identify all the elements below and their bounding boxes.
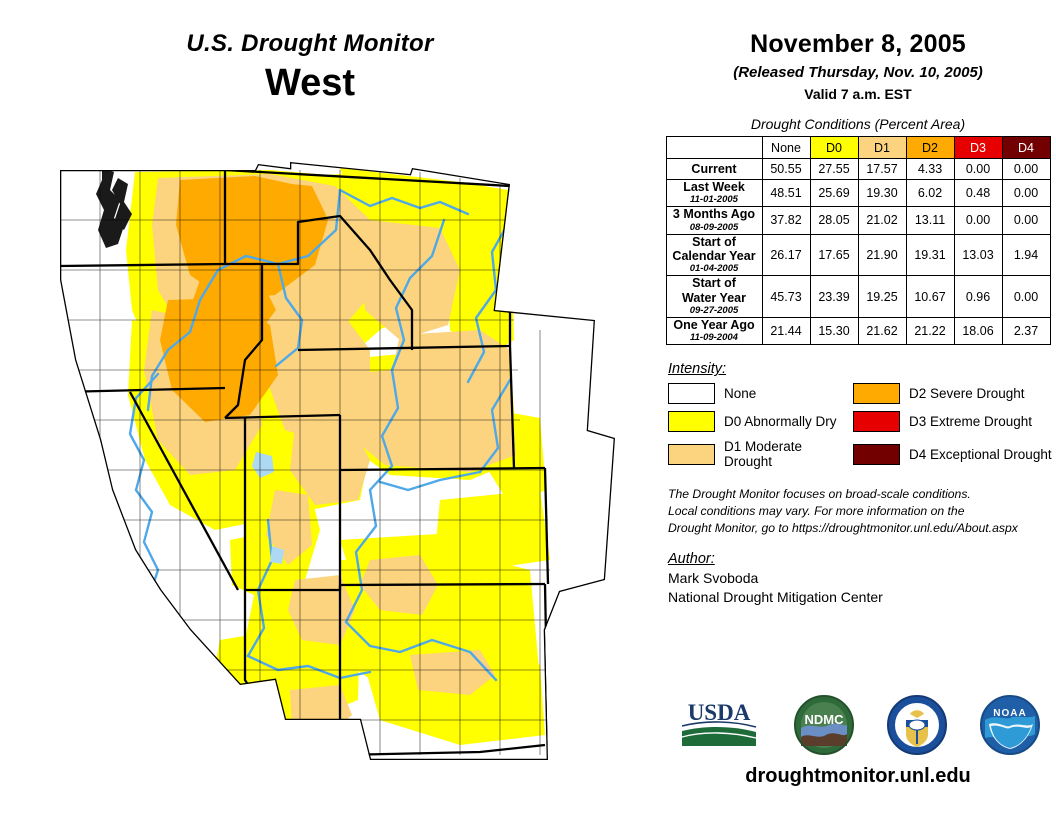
author-name: Mark Svoboda	[668, 570, 1056, 586]
cell-d3: 0.48	[954, 180, 1002, 207]
info-panel: November 8, 2005 (Released Thursday, Nov…	[660, 0, 1056, 816]
row-label-title: Start ofCalendar Year	[667, 235, 762, 264]
column-header-d4: D4	[1002, 137, 1050, 159]
ndmc-logo[interactable]: NDMC	[793, 694, 855, 756]
row-label: Last Week11-01-2005	[666, 180, 762, 207]
cell-d3: 0.00	[954, 159, 1002, 180]
column-header-d2: D2	[906, 137, 954, 159]
cell-d1: 21.02	[858, 207, 906, 234]
cell-none: 37.82	[762, 207, 810, 234]
cell-d4: 0.00	[1002, 276, 1050, 318]
table-row: Last Week11-01-200548.5125.6919.306.020.…	[666, 180, 1050, 207]
map-title-block: U.S. Drought Monitor West	[0, 30, 620, 105]
drought-map[interactable]	[40, 160, 620, 780]
legend-label-d1: D1 Moderate Drought	[724, 439, 853, 469]
report-header: November 8, 2005 (Released Thursday, Nov…	[660, 0, 1056, 102]
legend-label-none: None	[724, 386, 756, 401]
cell-d1: 19.30	[858, 180, 906, 207]
legend-grid: NoneD2 Severe DroughtD0 Abnormally DryD3…	[668, 383, 1056, 469]
legend-swatch-none	[668, 383, 715, 404]
cell-d2: 4.33	[906, 159, 954, 180]
legend-item-d3[interactable]: D3 Extreme Drought	[853, 411, 1053, 432]
author-org: National Drought Mitigation Center	[668, 589, 1056, 605]
legend-item-none[interactable]: None	[668, 383, 853, 404]
cell-none: 48.51	[762, 180, 810, 207]
cell-d2: 6.02	[906, 180, 954, 207]
table-row: Start ofCalendar Year01-04-200526.1717.6…	[666, 234, 1050, 276]
row-label-date: 09-27-2005	[667, 306, 762, 317]
cell-d1: 21.90	[858, 234, 906, 276]
legend-label-d4: D4 Exceptional Drought	[909, 447, 1052, 462]
disclaimer-line-2: Local conditions may vary. For more info…	[668, 503, 1056, 520]
row-label-title: One Year Ago	[667, 318, 762, 332]
cell-d1: 19.25	[858, 276, 906, 318]
row-label-date: 11-09-2004	[667, 333, 762, 344]
row-label: Current	[666, 159, 762, 180]
table-caption: Drought Conditions (Percent Area)	[660, 116, 1056, 132]
legend-swatch-d1	[668, 444, 715, 465]
row-label-date: 08-09-2005	[667, 223, 762, 234]
map-panel: U.S. Drought Monitor West	[0, 0, 660, 816]
legend-heading: Intensity:	[668, 361, 1056, 377]
legend-item-d4[interactable]: D4 Exceptional Drought	[853, 439, 1053, 469]
cell-d1: 17.57	[858, 159, 906, 180]
cell-d4: 0.00	[1002, 159, 1050, 180]
map-title-primary: U.S. Drought Monitor	[0, 30, 620, 58]
legend-item-d1[interactable]: D1 Moderate Drought	[668, 439, 853, 469]
row-label-date: 01-04-2005	[667, 264, 762, 275]
legend-item-d0[interactable]: D0 Abnormally Dry	[668, 411, 853, 432]
row-label-title: Start ofWater Year	[667, 276, 762, 305]
cell-d4: 0.00	[1002, 207, 1050, 234]
legend-swatch-d2	[853, 383, 900, 404]
legend-swatch-d3	[853, 411, 900, 432]
row-label: One Year Ago11-09-2004	[666, 317, 762, 344]
drought-conditions-table: None D0 D1 D2 D3 D4 Current50.5527.5517.…	[666, 136, 1051, 345]
cell-d3: 0.96	[954, 276, 1002, 318]
cell-none: 26.17	[762, 234, 810, 276]
legend-item-d2[interactable]: D2 Severe Drought	[853, 383, 1053, 404]
column-header-none: None	[762, 137, 810, 159]
cell-d2: 10.67	[906, 276, 954, 318]
cell-d0: 23.39	[810, 276, 858, 318]
table-corner-cell	[666, 137, 762, 159]
legend-label-d3: D3 Extreme Drought	[909, 414, 1032, 429]
table-body: Current50.5527.5517.574.330.000.00Last W…	[666, 159, 1050, 345]
noaa-logo[interactable]: NOAA	[979, 694, 1041, 756]
cell-d4: 2.37	[1002, 317, 1050, 344]
cell-none: 21.44	[762, 317, 810, 344]
author-block: Author: Mark Svoboda National Drought Mi…	[668, 551, 1056, 605]
table-row: Current50.5527.5517.574.330.000.00	[666, 159, 1050, 180]
report-date: November 8, 2005	[660, 30, 1056, 59]
table-header-row: None D0 D1 D2 D3 D4	[666, 137, 1050, 159]
legend-label-d2: D2 Severe Drought	[909, 386, 1025, 401]
row-label-title: Current	[667, 162, 762, 176]
website-url[interactable]: droughtmonitor.unl.edu	[660, 765, 1056, 788]
row-label: Start ofCalendar Year01-04-2005	[666, 234, 762, 276]
map-title-region: West	[0, 62, 620, 105]
row-label: 3 Months Ago08-09-2005	[666, 207, 762, 234]
cell-d2: 21.22	[906, 317, 954, 344]
table-row: One Year Ago11-09-200421.4415.3021.6221.…	[666, 317, 1050, 344]
cell-none: 50.55	[762, 159, 810, 180]
table-row: Start ofWater Year09-27-200545.7323.3919…	[666, 276, 1050, 318]
author-heading: Author:	[668, 551, 1056, 567]
row-label-title: 3 Months Ago	[667, 207, 762, 221]
partner-logos: USDA NDMC	[660, 690, 1056, 760]
report-valid-time: Valid 7 a.m. EST	[660, 86, 1056, 102]
disclaimer-text: The Drought Monitor focuses on broad-sca…	[668, 486, 1056, 536]
intensity-legend: Intensity: NoneD2 Severe DroughtD0 Abnor…	[668, 361, 1056, 469]
table-row: 3 Months Ago08-09-200537.8228.0521.0213.…	[666, 207, 1050, 234]
cell-d3: 18.06	[954, 317, 1002, 344]
cell-d0: 25.69	[810, 180, 858, 207]
cell-d3: 13.03	[954, 234, 1002, 276]
svg-text:NOAA: NOAA	[993, 708, 1026, 719]
disclaimer-line-3: Drought Monitor, go to https://droughtmo…	[668, 520, 1056, 537]
legend-label-d0: D0 Abnormally Dry	[724, 414, 837, 429]
row-label-title: Last Week	[667, 180, 762, 194]
report-release-date: (Released Thursday, Nov. 10, 2005)	[660, 64, 1056, 81]
cell-d0: 28.05	[810, 207, 858, 234]
cell-d0: 15.30	[810, 317, 858, 344]
row-label-date: 11-01-2005	[667, 195, 762, 206]
svg-text:NDMC: NDMC	[804, 712, 844, 727]
cell-d0: 17.65	[810, 234, 858, 276]
legend-swatch-d4	[853, 444, 900, 465]
cell-d3: 0.00	[954, 207, 1002, 234]
column-header-d3: D3	[954, 137, 1002, 159]
legend-swatch-d0	[668, 411, 715, 432]
map-base-layer	[40, 160, 620, 780]
column-header-d0: D0	[810, 137, 858, 159]
usdc-seal[interactable]	[886, 694, 948, 756]
cell-d0: 27.55	[810, 159, 858, 180]
cell-d1: 21.62	[858, 317, 906, 344]
column-header-d1: D1	[858, 137, 906, 159]
cell-none: 45.73	[762, 276, 810, 318]
cell-d2: 19.31	[906, 234, 954, 276]
row-label: Start ofWater Year09-27-2005	[666, 276, 762, 318]
cell-d4: 1.94	[1002, 234, 1050, 276]
disclaimer-line-1: The Drought Monitor focuses on broad-sca…	[668, 486, 1056, 503]
cell-d4: 0.00	[1002, 180, 1050, 207]
cell-d2: 13.11	[906, 207, 954, 234]
usda-logo[interactable]: USDA	[676, 696, 762, 754]
